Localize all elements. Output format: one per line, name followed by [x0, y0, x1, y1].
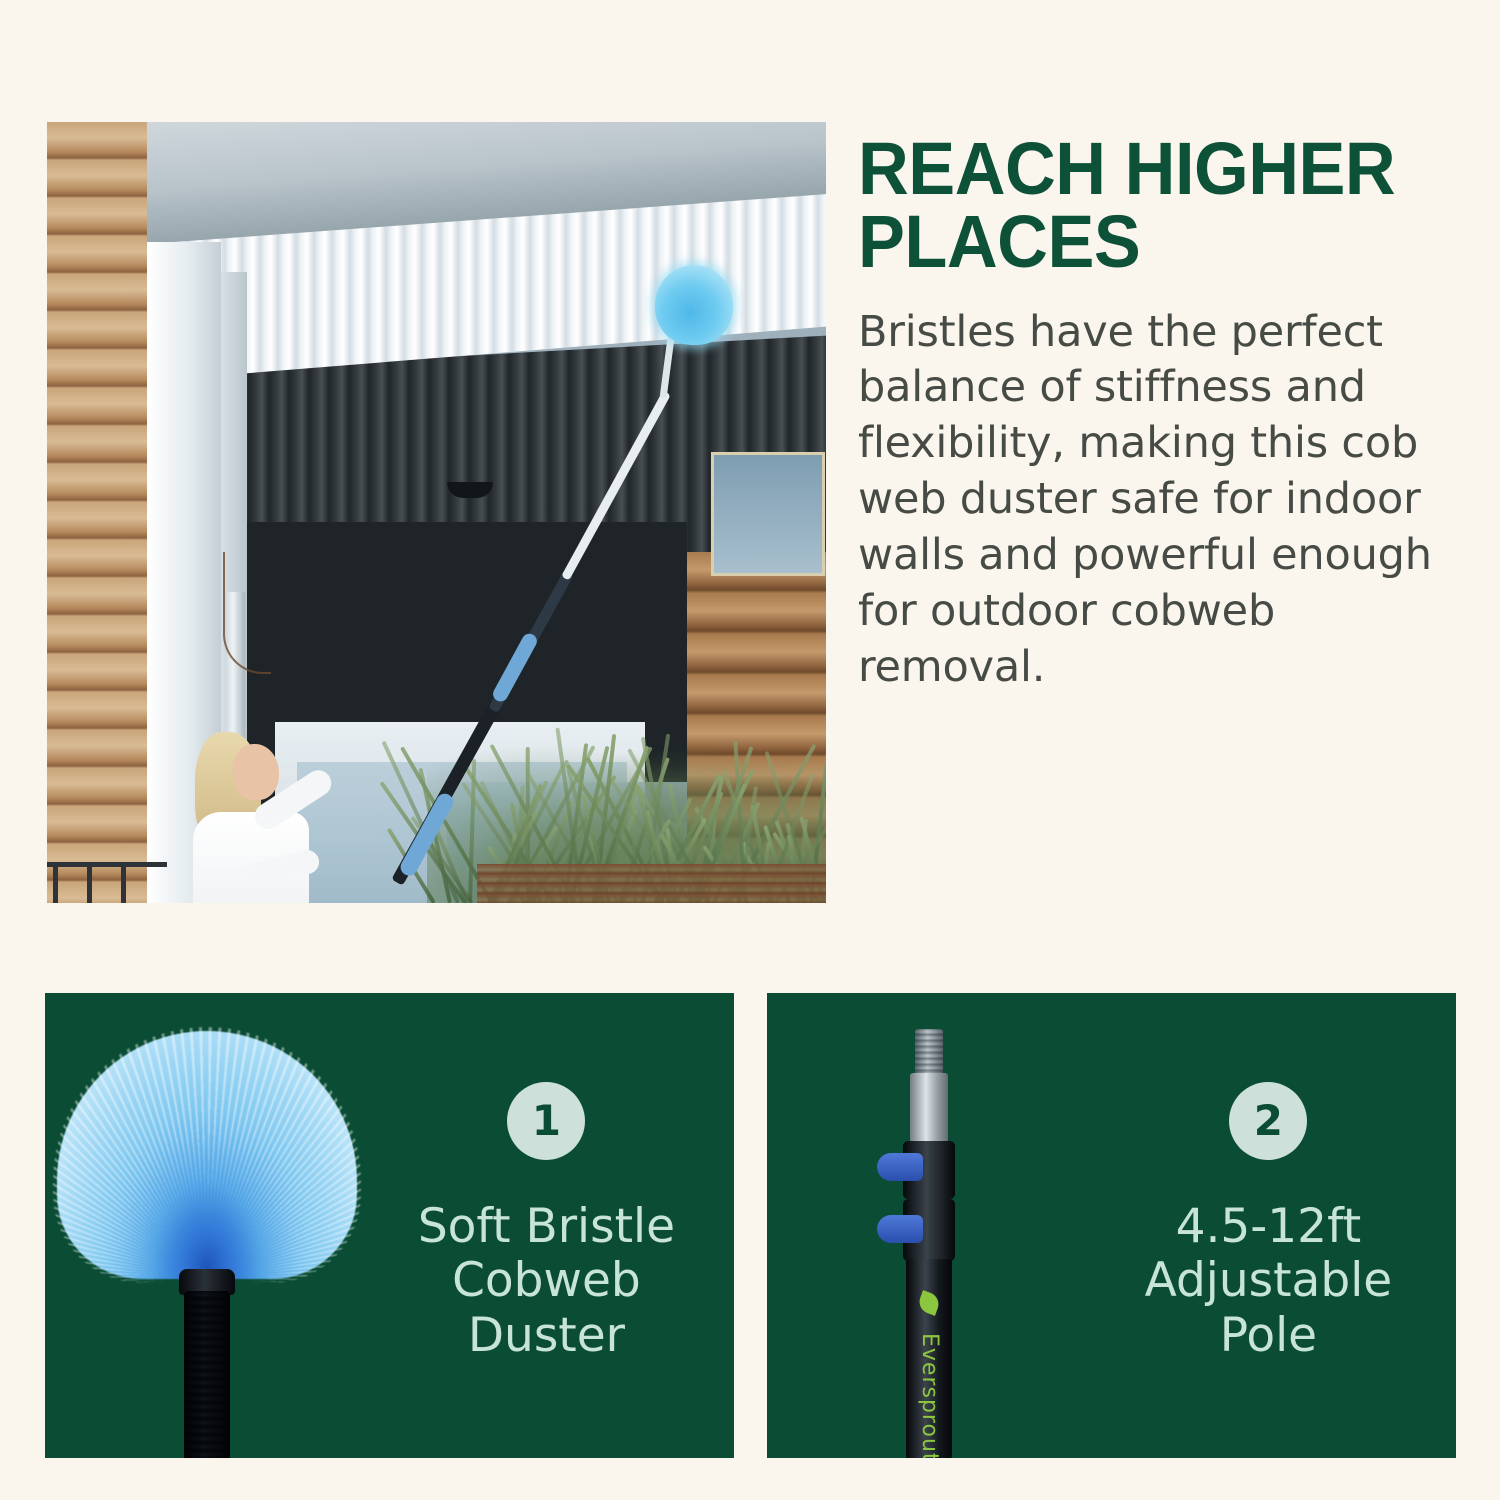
duster-bristle-head	[57, 1031, 357, 1279]
duster-head-in-use	[655, 265, 733, 345]
hero-description: Bristles have the perfect balance of sti…	[858, 305, 1458, 696]
feature-badge-2: 2	[1229, 1082, 1307, 1160]
pole-threaded-tip	[915, 1029, 943, 1075]
pole-product-photo: Eversprout	[767, 993, 1091, 1458]
feature-label-2: 4.5-12ft Adjustable Pole	[1145, 1200, 1393, 1364]
flip-lock-lever-lower	[877, 1215, 923, 1243]
feature-badge-1: 1	[507, 1082, 585, 1160]
hero-photo	[47, 122, 826, 903]
flip-lock-lever-upper	[877, 1153, 923, 1181]
window	[711, 452, 825, 576]
model-face	[233, 744, 279, 800]
duster-threaded-handle	[184, 1291, 230, 1458]
feature-card-pole: Eversprout 2 4.5-12ft Adjustable Pole	[767, 993, 1456, 1458]
stair-railing	[47, 862, 167, 903]
hero-copy: REACH HIGHER PLACES Bristles have the pe…	[858, 132, 1458, 696]
product-infographic: REACH HIGHER PLACES Bristles have the pe…	[0, 0, 1500, 1500]
feature-card-duster: 1 Soft Bristle Cobweb Duster	[45, 993, 734, 1458]
pole-metal-sleeve	[910, 1073, 948, 1143]
page-title: REACH HIGHER PLACES	[858, 132, 1428, 279]
feature-cards: 1 Soft Bristle Cobweb Duster Eversprout	[45, 993, 1456, 1458]
brand-name: Eversprout	[917, 1333, 942, 1458]
feature-label-1: Soft Bristle Cobweb Duster	[418, 1200, 675, 1364]
duster-product-photo	[45, 993, 369, 1458]
